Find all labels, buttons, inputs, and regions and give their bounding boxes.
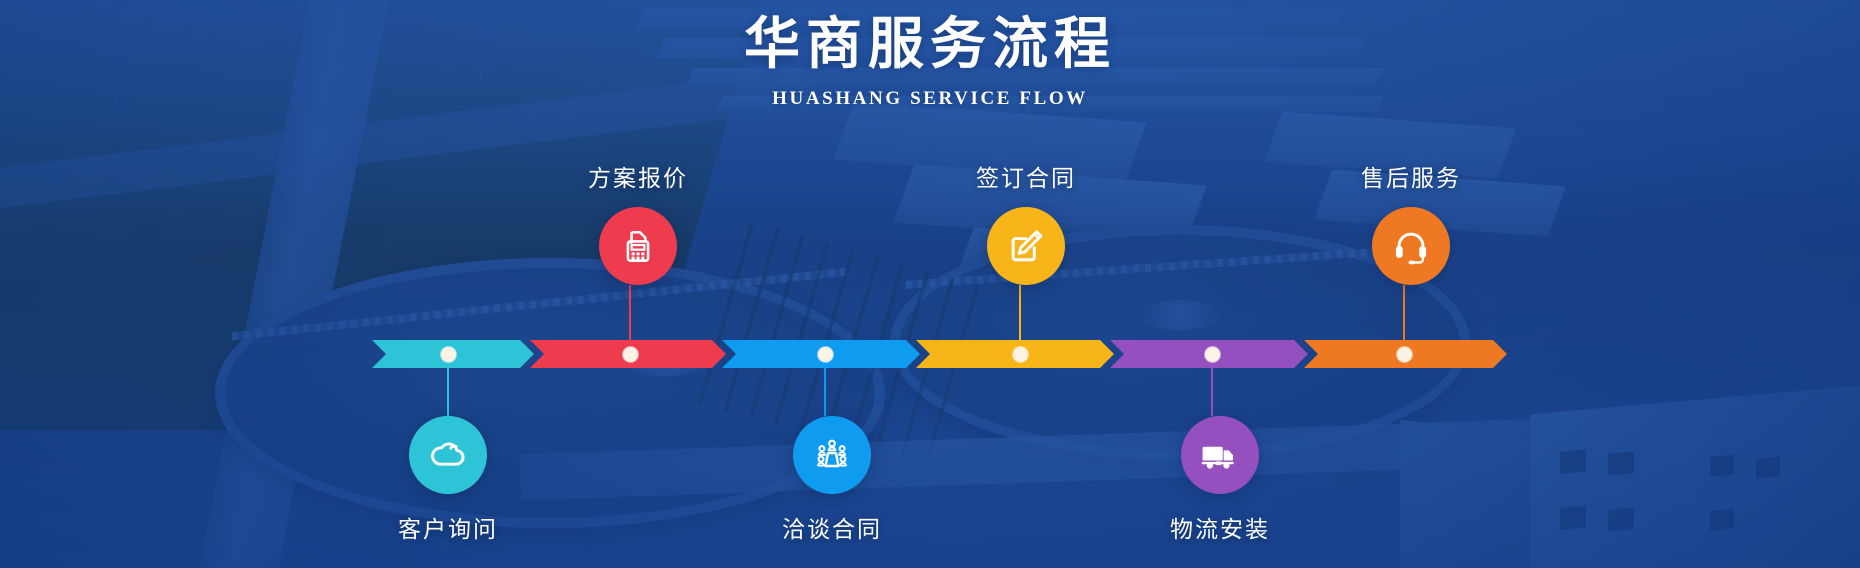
headset-icon bbox=[1389, 224, 1433, 268]
flow-step-label-3: 洽谈合同 bbox=[722, 510, 942, 544]
service-flow-banner: 华商服务流程 HUASHANG SERVICE FLOW 客户询问 方案报价 bbox=[0, 0, 1860, 568]
pen-edit-icon bbox=[1004, 224, 1048, 268]
flow-step-bubble-5[interactable] bbox=[1181, 416, 1259, 494]
flow-step-label-1: 客户询问 bbox=[338, 510, 558, 544]
calculator-document-icon bbox=[616, 224, 660, 268]
flow-node-dot-5 bbox=[1205, 347, 1220, 362]
flow-node-dot-6 bbox=[1397, 347, 1412, 362]
truck-icon bbox=[1198, 433, 1242, 477]
flow-node-dot-2 bbox=[623, 347, 638, 362]
flow-step-bubble-1[interactable] bbox=[409, 416, 487, 494]
flow-step-bubble-4[interactable] bbox=[987, 207, 1065, 285]
flow-node-dot-4 bbox=[1013, 347, 1028, 362]
flow-step-bubble-6[interactable] bbox=[1372, 207, 1450, 285]
flow-step-bubble-3[interactable] bbox=[793, 416, 871, 494]
cloud-icon bbox=[426, 433, 470, 477]
flow-step-bubble-2[interactable] bbox=[599, 207, 677, 285]
flow-node-dot-3 bbox=[818, 347, 833, 362]
flow-node-dot-1 bbox=[441, 347, 456, 362]
meeting-table-icon bbox=[810, 433, 854, 477]
flow-step-label-6: 售后服务 bbox=[1301, 159, 1521, 193]
banner-heading: 华商服务流程 HUASHANG SERVICE FLOW bbox=[0, 12, 1860, 110]
flow-step-label-4: 签订合同 bbox=[916, 159, 1136, 193]
page-subtitle: HUASHANG SERVICE FLOW bbox=[0, 88, 1860, 110]
page-title: 华商服务流程 bbox=[0, 12, 1860, 78]
flow-step-label-2: 方案报价 bbox=[528, 159, 748, 193]
flow-step-label-5: 物流安装 bbox=[1110, 510, 1330, 544]
flow-rail bbox=[372, 340, 1507, 368]
